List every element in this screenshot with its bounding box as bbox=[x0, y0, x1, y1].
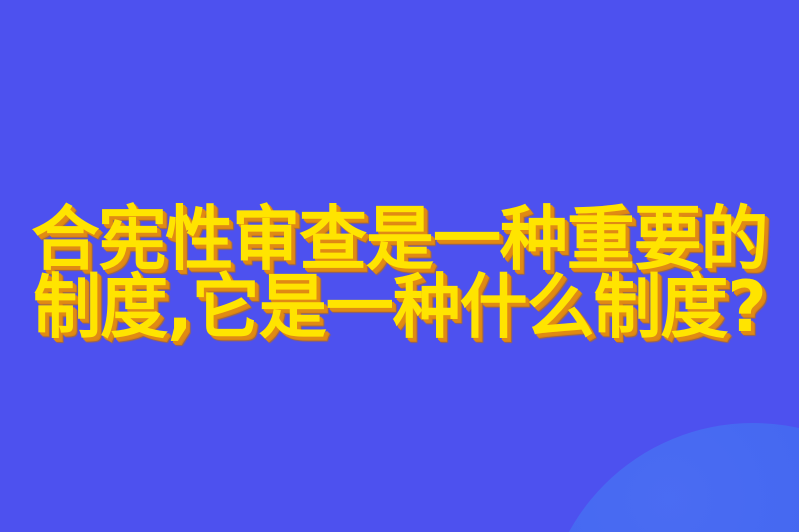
headline-line-2: 制度,它是一种什么制度? bbox=[12, 274, 787, 340]
poster-canvas: 合宪性审查是一种重要的 制度,它是一种什么制度? bbox=[0, 0, 799, 532]
headline-line-1: 合宪性审查是一种重要的 bbox=[12, 206, 787, 272]
headline-block: 合宪性审查是一种重要的 制度,它是一种什么制度? bbox=[0, 206, 799, 340]
